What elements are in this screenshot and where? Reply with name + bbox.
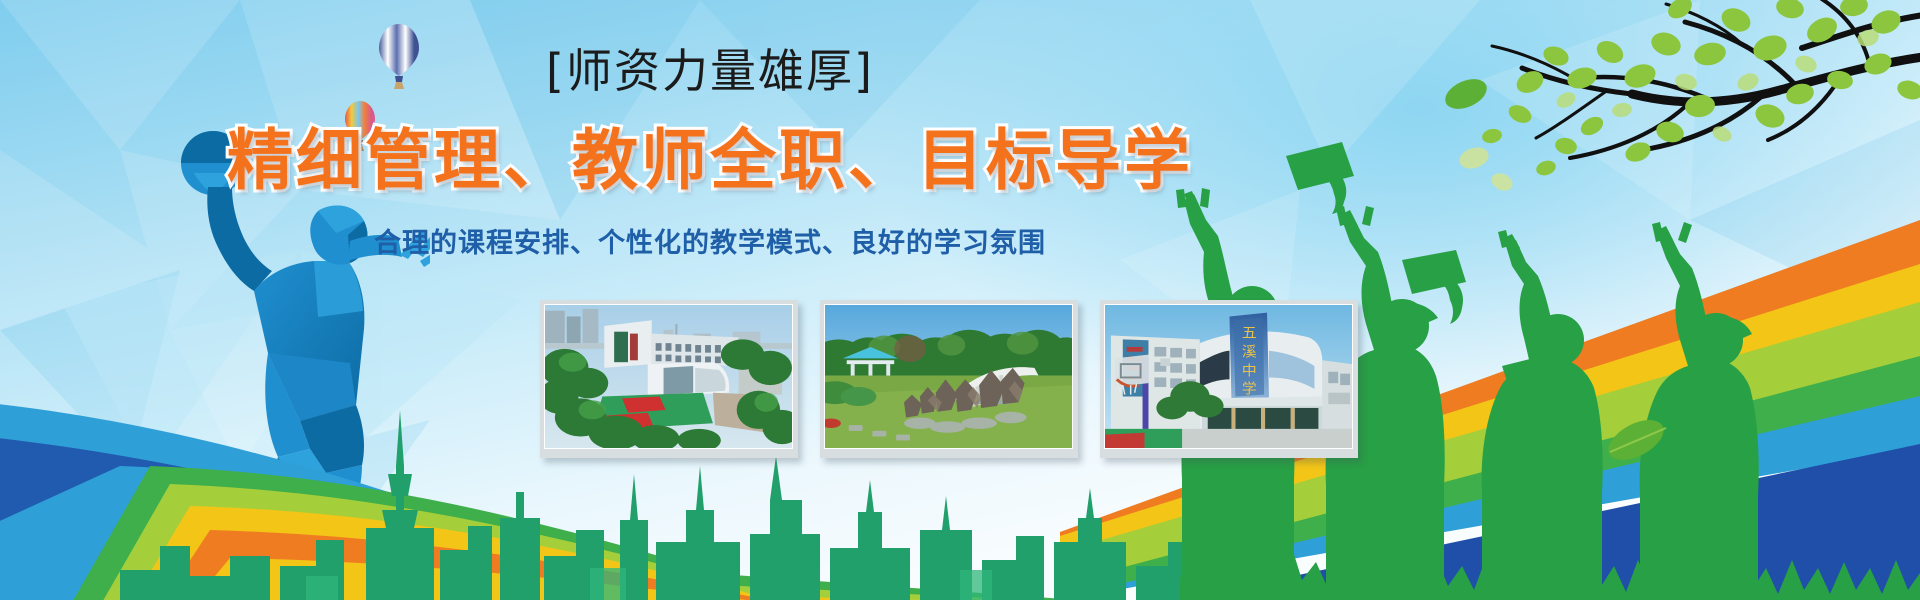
photo-frame [824, 304, 1073, 449]
photo-campus-aerial[interactable] [540, 300, 798, 458]
photo-garden-bridge[interactable] [820, 300, 1078, 458]
photo-school-gate[interactable]: 五 溪 中 学 [1100, 300, 1358, 458]
bracket-title: [师资力量雄厚] [0, 48, 1420, 94]
school-banner: 五 溪 中 学 [0, 0, 1920, 600]
photo-campus-aerial-image [545, 305, 792, 448]
photo-school-gate-image: 五 溪 中 学 [1105, 305, 1352, 448]
photo-strip: 五 溪 中 学 [540, 300, 1358, 458]
photo-garden-bridge-image [825, 305, 1072, 448]
svg-text:五: 五 [1242, 325, 1257, 342]
svg-text:中: 中 [1242, 363, 1257, 380]
page-subtitle: 合理的课程安排、个性化的教学模式、良好的学习氛围 [0, 228, 1420, 260]
svg-text:溪: 溪 [1242, 344, 1257, 361]
photo-frame: 五 溪 中 学 [1104, 304, 1353, 449]
photo-frame [544, 304, 793, 449]
grass-icon [1180, 530, 1920, 600]
svg-text:学: 学 [1242, 381, 1257, 398]
page-title: 精细管理、教师全职、目标导学 [0, 122, 1420, 200]
